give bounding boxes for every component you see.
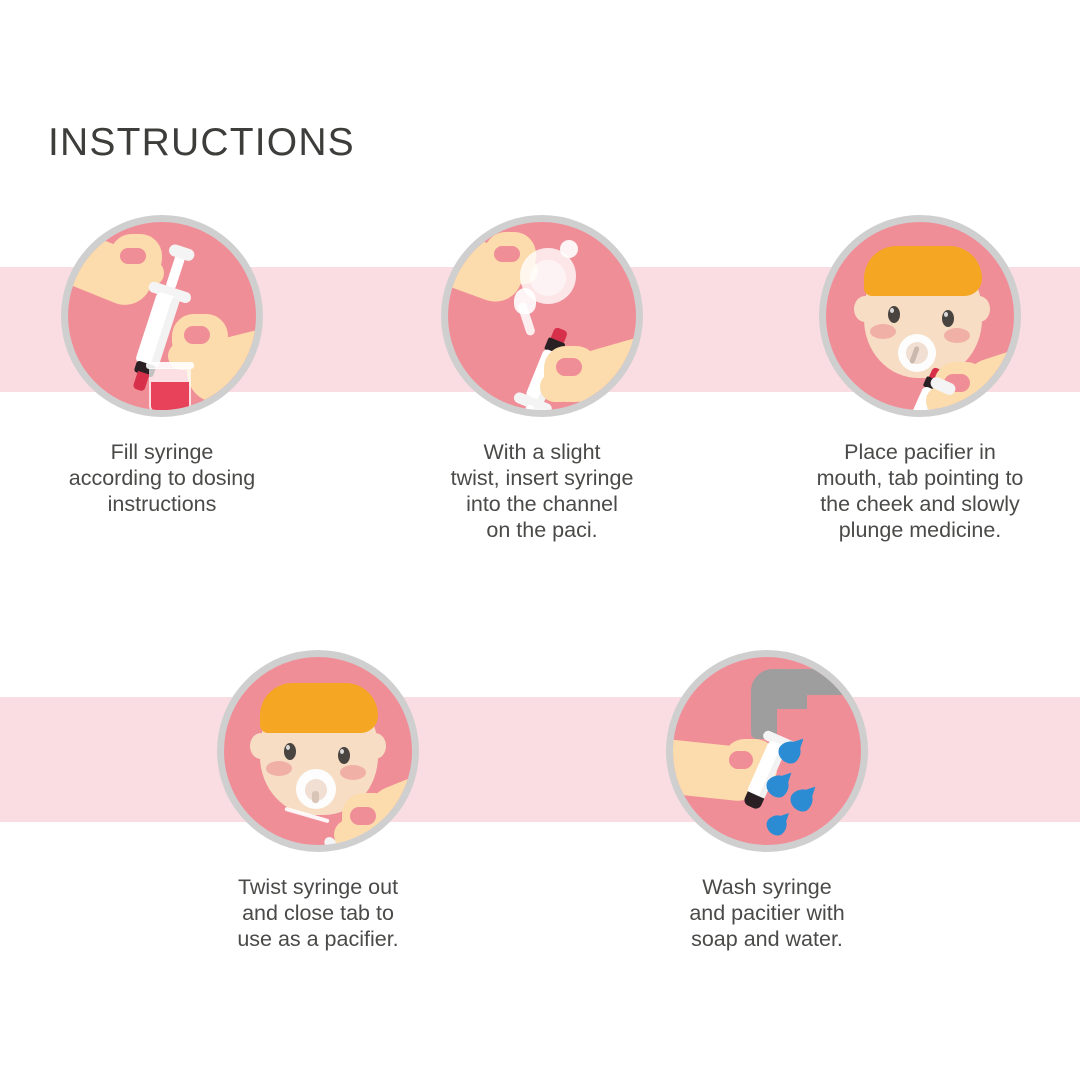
baby-blush-right <box>340 765 366 780</box>
step-5-caption-line-3: soap and water. <box>617 926 917 952</box>
step-5-illustration-wrap <box>617 650 917 856</box>
baby-blush-left <box>870 324 896 339</box>
step-1-illustration-circle <box>61 215 263 417</box>
scene-fill-syringe <box>68 222 256 410</box>
pacifier-closed-tab <box>312 791 319 803</box>
syringe-tip-medicine <box>132 371 149 392</box>
step-4-caption: Twist syringe out and close tab to use a… <box>168 874 468 952</box>
step-2-illustration-wrap <box>392 215 692 421</box>
step-3-caption-line-1: Place pacifier in <box>770 439 1070 465</box>
decorative-band-bottom <box>0 697 1080 822</box>
pacifier-shield-inner <box>530 260 566 296</box>
step-1: Fill syringe according to dosing instruc… <box>12 215 312 517</box>
step-3-caption-line-3: the cheek and slowly <box>770 491 1070 517</box>
scene-place-pacifier-in-mouth <box>826 222 1014 410</box>
medicine-cup-liquid <box>151 382 189 411</box>
baby-eye-left-glint <box>890 308 894 313</box>
step-3-caption-line-2: mouth, tab pointing to <box>770 465 1070 491</box>
step-5-caption: Wash syringe and pacitier with soap and … <box>617 874 917 952</box>
step-4-illustration-circle <box>217 650 419 852</box>
step-2-caption-line-3: into the channel <box>392 491 692 517</box>
step-1-caption: Fill syringe according to dosing instruc… <box>12 439 312 517</box>
step-1-caption-line-3: instructions <box>12 491 312 517</box>
lower-hand-grip-hole <box>184 326 210 344</box>
syringe-plunger-rod <box>325 850 341 852</box>
step-4-illustration-wrap <box>168 650 468 856</box>
step-5-caption-line-2: and pacitier with <box>617 900 917 926</box>
step-5-illustration-circle <box>666 650 868 852</box>
step-3-caption-line-4: plunge medicine. <box>770 517 1070 543</box>
step-1-caption-line-1: Fill syringe <box>12 439 312 465</box>
step-4-caption-line-2: and close tab to <box>168 900 468 926</box>
step-3: Place pacifier in mouth, tab pointing to… <box>770 215 1070 543</box>
step-3-caption: Place pacifier in mouth, tab pointing to… <box>770 439 1070 543</box>
step-4-caption-line-3: use as a pacifier. <box>168 926 468 952</box>
step-2-caption-line-2: twist, insert syringe <box>392 465 692 491</box>
upper-hand-grip-hole <box>120 248 146 264</box>
hand-grip-hole <box>350 807 376 825</box>
syringe-finger-flange <box>899 411 936 417</box>
baby-blush-left <box>266 761 292 776</box>
upper-hand-grip-hole <box>494 246 520 262</box>
step-5-caption-line-1: Wash syringe <box>617 874 917 900</box>
scene-insert-syringe <box>448 222 636 410</box>
step-4: Twist syringe out and close tab to use a… <box>168 650 468 952</box>
step-2: With a slight twist, insert syringe into… <box>392 215 692 543</box>
step-2-caption: With a slight twist, insert syringe into… <box>392 439 692 543</box>
step-2-illustration-circle <box>441 215 643 417</box>
baby-eye-right-glint <box>340 749 344 754</box>
instructions-infographic: INSTRUCTIONS <box>0 0 1080 1080</box>
step-1-illustration-wrap <box>12 215 312 421</box>
lower-hand-grip-hole <box>556 358 582 376</box>
baby-blush-right <box>944 328 970 343</box>
step-1-caption-line-2: according to dosing <box>12 465 312 491</box>
step-2-caption-line-4: on the paci. <box>392 517 692 543</box>
syringe-plunger-rod <box>518 404 536 417</box>
page-title: INSTRUCTIONS <box>48 121 355 165</box>
scene-wash-syringe <box>673 657 861 845</box>
step-3-illustration-circle <box>819 215 1021 417</box>
step-4-caption-line-1: Twist syringe out <box>168 874 468 900</box>
step-5: Wash syringe and pacitier with soap and … <box>617 650 917 952</box>
step-3-illustration-wrap <box>770 215 1070 421</box>
scene-twist-syringe-out <box>224 657 412 845</box>
baby-eye-left-glint <box>286 745 290 750</box>
step-2-caption-line-1: With a slight <box>392 439 692 465</box>
baby-eye-right-glint <box>944 312 948 317</box>
lower-hand-thumb <box>540 372 576 402</box>
pacifier-ring-nub <box>560 240 578 258</box>
